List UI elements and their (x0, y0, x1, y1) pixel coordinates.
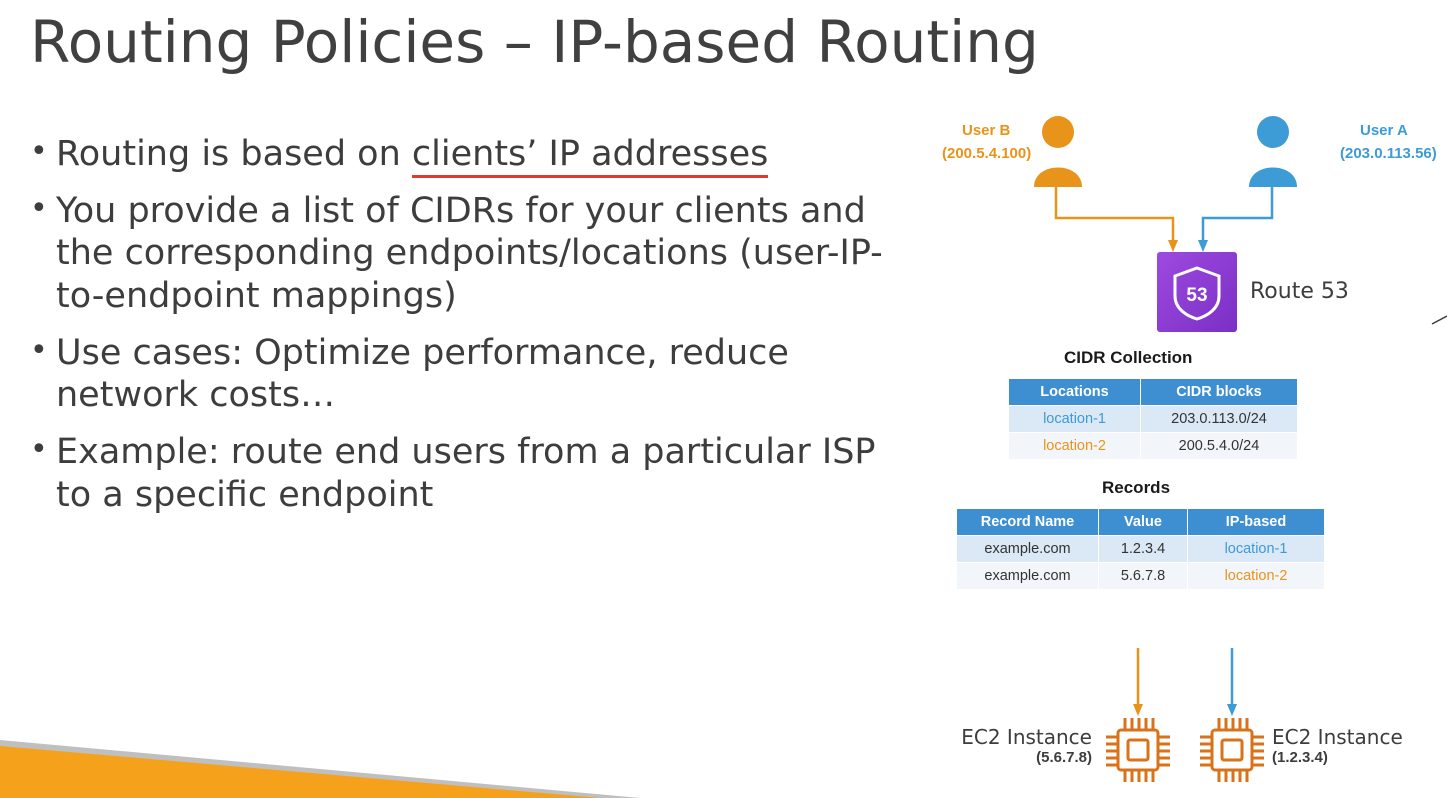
table-row: location-1 203.0.113.0/24 (1009, 406, 1298, 433)
cidr-collection-table: Locations CIDR blocks location-1 203.0.1… (1008, 378, 1298, 460)
ec2-right-ip: (1.2.3.4) (1272, 749, 1447, 766)
cidr-col-locations: Locations (1009, 379, 1141, 406)
bullet-text: You provide a list of CIDRs for your cli… (56, 190, 910, 318)
ec2-left-label: EC2 Instance (5.6.7.8) (912, 725, 1092, 766)
list-item: • Example: route end users from a partic… (30, 431, 910, 516)
records-row-1-ipbased: location-2 (1188, 563, 1325, 590)
bullet-text: Routing is based on clients’ IP addresse… (56, 133, 910, 176)
cidr-collection-caption: CIDR Collection (1064, 348, 1192, 368)
bullet-dot-icon: • (30, 431, 56, 469)
ec2-left-icon (1100, 712, 1176, 795)
user-b-ip: (200.5.4.100) (942, 145, 1031, 162)
route53-icon: 53 (1157, 252, 1237, 337)
ec2-right-name: EC2 Instance (1272, 725, 1403, 749)
route53-label: Route 53 (1250, 279, 1349, 304)
bullet-text-pre: Routing is based on (56, 134, 412, 174)
ec2-right-icon (1194, 712, 1270, 795)
bullet-dot-icon: • (30, 190, 56, 228)
cidr-row-1-location: location-2 (1009, 433, 1141, 460)
records-row-0-ipbased: location-1 (1188, 536, 1325, 563)
cidr-row-0-cidr: 203.0.113.0/24 (1141, 406, 1298, 433)
user-a-name: User A (1360, 122, 1408, 139)
user-b-name: User B (962, 122, 1010, 139)
bullet-list: • Routing is based on clients’ IP addres… (30, 133, 910, 531)
list-item: • Use cases: Optimize performance, reduc… (30, 332, 910, 417)
bullet-text: Use cases: Optimize performance, reduce … (56, 332, 910, 417)
table-row: location-2 200.5.4.0/24 (1009, 433, 1298, 460)
list-item: • You provide a list of CIDRs for your c… (30, 190, 910, 318)
list-item: • Routing is based on clients’ IP addres… (30, 133, 910, 176)
user-b-avatar-icon (1030, 115, 1086, 192)
cidr-row-0-location: location-1 (1009, 406, 1141, 433)
bullet-dot-icon: • (30, 332, 56, 370)
records-row-0-value: 1.2.3.4 (1099, 536, 1188, 563)
records-col-name: Record Name (957, 509, 1099, 536)
bullet-text-underlined: clients’ IP addresses (412, 134, 768, 178)
bullet-dot-icon: • (30, 133, 56, 171)
records-row-1-name: example.com (957, 563, 1099, 590)
cidr-col-blocks: CIDR blocks (1141, 379, 1298, 406)
ec2-left-name: EC2 Instance (961, 725, 1092, 749)
architecture-diagram: User B (200.5.4.100) User A (203.0.113.5… (920, 0, 1447, 798)
user-a-avatar-icon (1245, 115, 1301, 192)
ec2-right-label: EC2 Instance (1.2.3.4) (1272, 725, 1447, 766)
table-header-row: Locations CIDR blocks (1009, 379, 1298, 406)
page-title: Routing Policies – IP-based Routing (30, 8, 1039, 76)
table-header-row: Record Name Value IP-based (957, 509, 1325, 536)
records-col-value: Value (1099, 509, 1188, 536)
records-row-1-value: 5.6.7.8 (1099, 563, 1188, 590)
records-caption: Records (1102, 478, 1170, 498)
table-row: example.com 1.2.3.4 location-1 (957, 536, 1325, 563)
cidr-row-1-cidr: 200.5.4.0/24 (1141, 433, 1298, 460)
records-row-0-name: example.com (957, 536, 1099, 563)
records-col-ipbased: IP-based (1188, 509, 1325, 536)
ec2-left-ip: (5.6.7.8) (912, 749, 1092, 766)
bullet-text: Example: route end users from a particul… (56, 431, 910, 516)
records-table: Record Name Value IP-based example.com 1… (956, 508, 1325, 590)
user-a-ip: (203.0.113.56) (1340, 145, 1437, 162)
svg-text:53: 53 (1186, 285, 1207, 306)
table-row: example.com 5.6.7.8 location-2 (957, 563, 1325, 590)
